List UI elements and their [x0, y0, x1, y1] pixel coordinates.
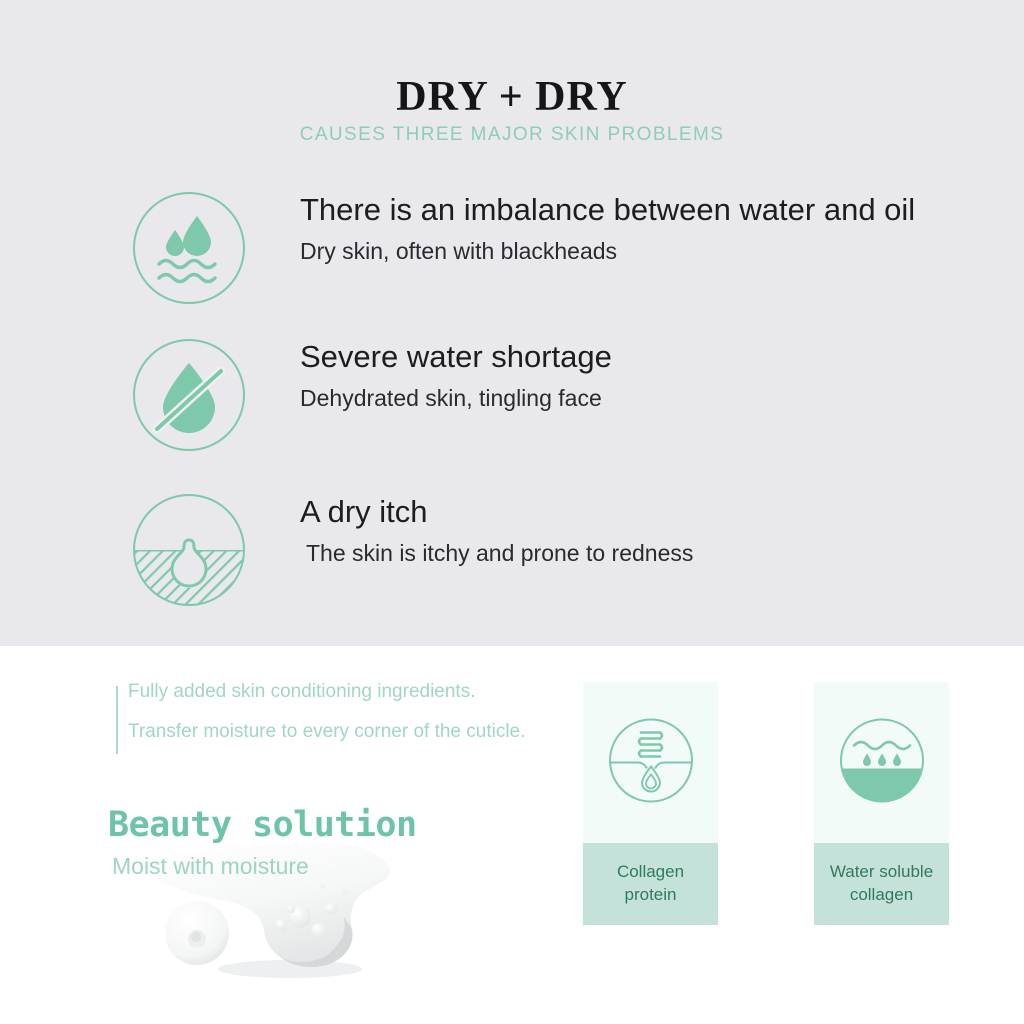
- solution-bullets: Fully added skin conditioning ingredient…: [128, 682, 648, 762]
- ingredient-card-label: Water soluble collagen: [814, 843, 949, 925]
- label-line-1: Water soluble: [830, 862, 933, 881]
- water-drops-waves-icon: [131, 190, 247, 306]
- infographic-page: DRY + DRY CAUSES THREE MAJOR SKIN PROBLE…: [0, 0, 1024, 1024]
- ingredient-card-image: [583, 682, 718, 843]
- problem-subtitle: The skin is itchy and prone to redness: [300, 540, 1012, 568]
- label-line-2: protein: [625, 885, 677, 904]
- water-waves-drops-icon: [832, 710, 932, 815]
- page-title: DRY + DRY: [0, 73, 1024, 121]
- problem-text-block: There is an imbalance between water and …: [300, 192, 1012, 265]
- problem-title: There is an imbalance between water and …: [300, 192, 1012, 229]
- ingredient-card-label-text: Collagen protein: [611, 861, 690, 906]
- ingredient-card-image: [814, 682, 949, 843]
- label-line-2: collagen: [850, 885, 913, 904]
- skin-problems-section: DRY + DRY CAUSES THREE MAJOR SKIN PROBLE…: [0, 0, 1024, 646]
- brand-title: Beauty solution: [108, 805, 417, 845]
- problem-subtitle: Dry skin, often with blackheads: [300, 238, 1012, 266]
- ingredient-card-label: Collagen protein: [583, 843, 718, 925]
- problem-item: There is an imbalance between water and …: [0, 190, 1024, 320]
- ingredient-card-label-text: Water soluble collagen: [824, 861, 939, 906]
- serum-gel-splash-photo: [140, 821, 410, 981]
- problem-item: A dry itch The skin is itchy and prone t…: [0, 492, 1024, 622]
- solution-bullet: Fully added skin conditioning ingredient…: [128, 682, 648, 701]
- solution-bullet: Transfer moisture to every corner of the…: [128, 722, 648, 741]
- problem-text-block: Severe water shortage Dehydrated skin, t…: [300, 339, 1012, 412]
- dry-pore-icon: [131, 492, 247, 608]
- page-subtitle: CAUSES THREE MAJOR SKIN PROBLEMS: [0, 124, 1024, 146]
- no-water-drop-icon: [131, 337, 247, 453]
- ingredient-card[interactable]: Water soluble collagen: [814, 682, 949, 925]
- ingredient-card[interactable]: Collagen protein: [583, 682, 718, 925]
- problem-text-block: A dry itch The skin is itchy and prone t…: [300, 494, 1012, 567]
- problem-subtitle: Dehydrated skin, tingling face: [300, 385, 1012, 413]
- problem-title: A dry itch: [300, 494, 1012, 531]
- collagen-coil-drop-icon: [601, 710, 701, 815]
- label-line-1: Collagen: [617, 862, 684, 881]
- vertical-rule: [116, 686, 118, 754]
- problem-title: Severe water shortage: [300, 339, 1012, 376]
- problem-item: Severe water shortage Dehydrated skin, t…: [0, 337, 1024, 467]
- brand-subtitle: Moist with moisture: [112, 853, 309, 880]
